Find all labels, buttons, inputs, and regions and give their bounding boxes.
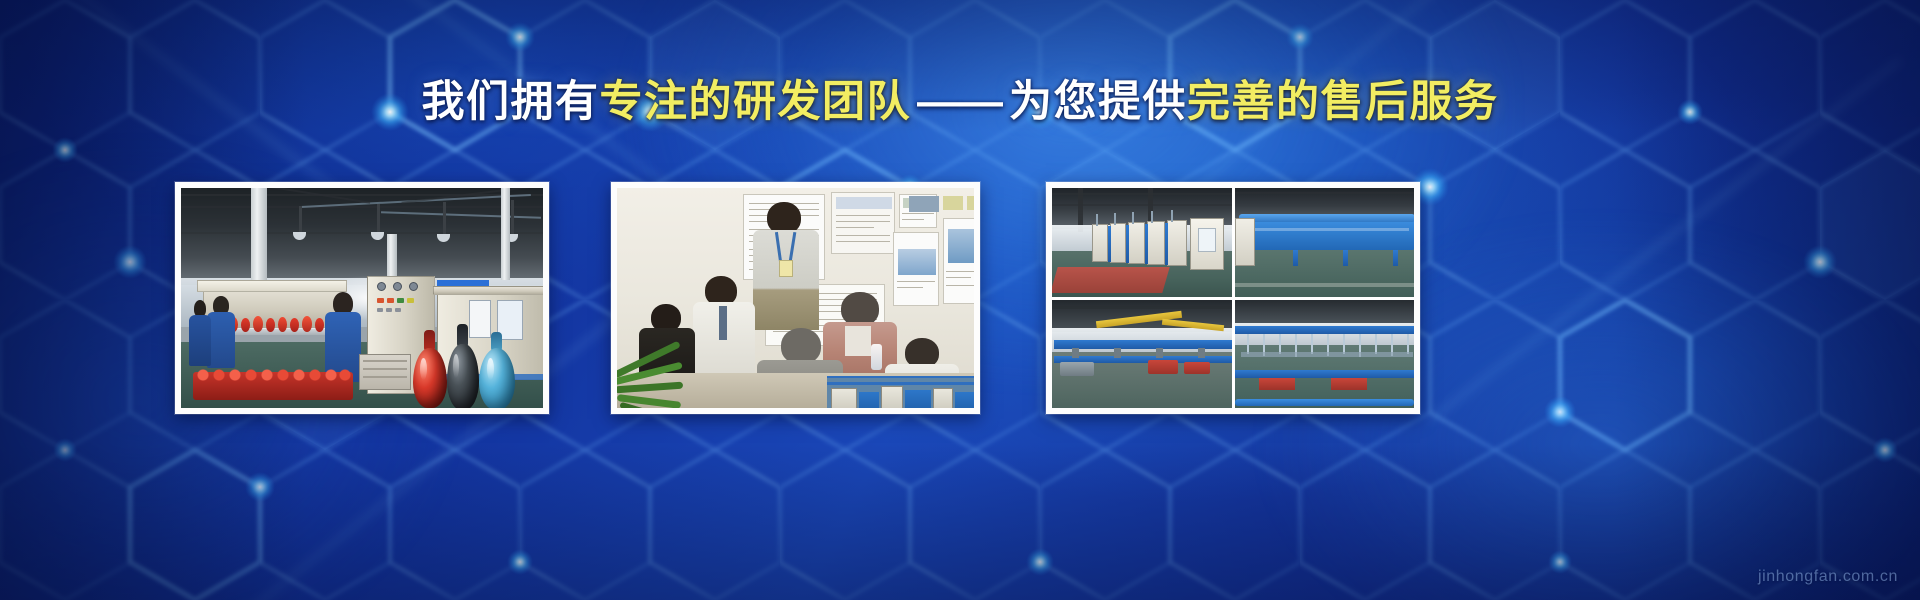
photo-frame-team-meeting[interactable]: 研发团队技术交流会议 — [611, 182, 980, 414]
photo-gallery: 工厂喷涂车间 — 工人在流水线上处理红色玻璃器皿 — [0, 182, 1920, 414]
wall-poster-schematic-1 — [893, 232, 939, 306]
site-watermark: jinhongfan.com.cn — [1758, 568, 1898, 586]
person-presenter — [753, 202, 819, 330]
headline-container: 我们拥有专注的研发团队——为您提供完善的售后服务 — [0, 78, 1920, 126]
machine-line-inset — [827, 376, 974, 408]
headline-segment-2: 专注的研发团队 — [600, 78, 912, 126]
person-seated-front-left — [693, 276, 755, 380]
photo-frame-coating-workshop[interactable]: 工厂喷涂车间 — 工人在流水线上处理红色玻璃器皿 — [175, 182, 549, 414]
headline-segment-4: 完善的售后服务 — [1187, 78, 1499, 126]
product-vase-dark — [447, 324, 479, 408]
wall-poster-schematic-2 — [943, 218, 974, 304]
hero-banner: 我们拥有专注的研发团队——为您提供完善的售后服务 — [0, 0, 1920, 600]
worker-left — [207, 296, 235, 368]
collage-cell-plating-shop — [1052, 188, 1232, 297]
photo-equipment-collage — [1052, 188, 1414, 408]
collage-cell-hanging-rack — [1235, 300, 1415, 409]
product-vase-red — [413, 330, 447, 408]
collage-cell-coating-tunnel — [1235, 188, 1415, 297]
water-bottle — [871, 344, 882, 370]
headline-dash: —— — [911, 78, 1009, 126]
photo-coating-workshop — [181, 188, 543, 408]
page-title: 我们拥有专注的研发团队——为您提供完善的售后服务 — [422, 78, 1499, 126]
wall-poster-2 — [831, 192, 895, 254]
product-vase-blue — [479, 332, 515, 408]
worker-left-back — [189, 300, 211, 366]
headline-segment-3: 为您提供 — [1009, 78, 1187, 126]
headline-segment-1: 我们拥有 — [422, 78, 600, 126]
photo-frame-equipment-collage[interactable]: 生产设备与自动化生产线 — [1046, 182, 1420, 414]
collage-cell-conveyor-line — [1052, 300, 1232, 409]
foreground-plant — [617, 338, 691, 408]
photo-team-meeting — [617, 188, 974, 408]
